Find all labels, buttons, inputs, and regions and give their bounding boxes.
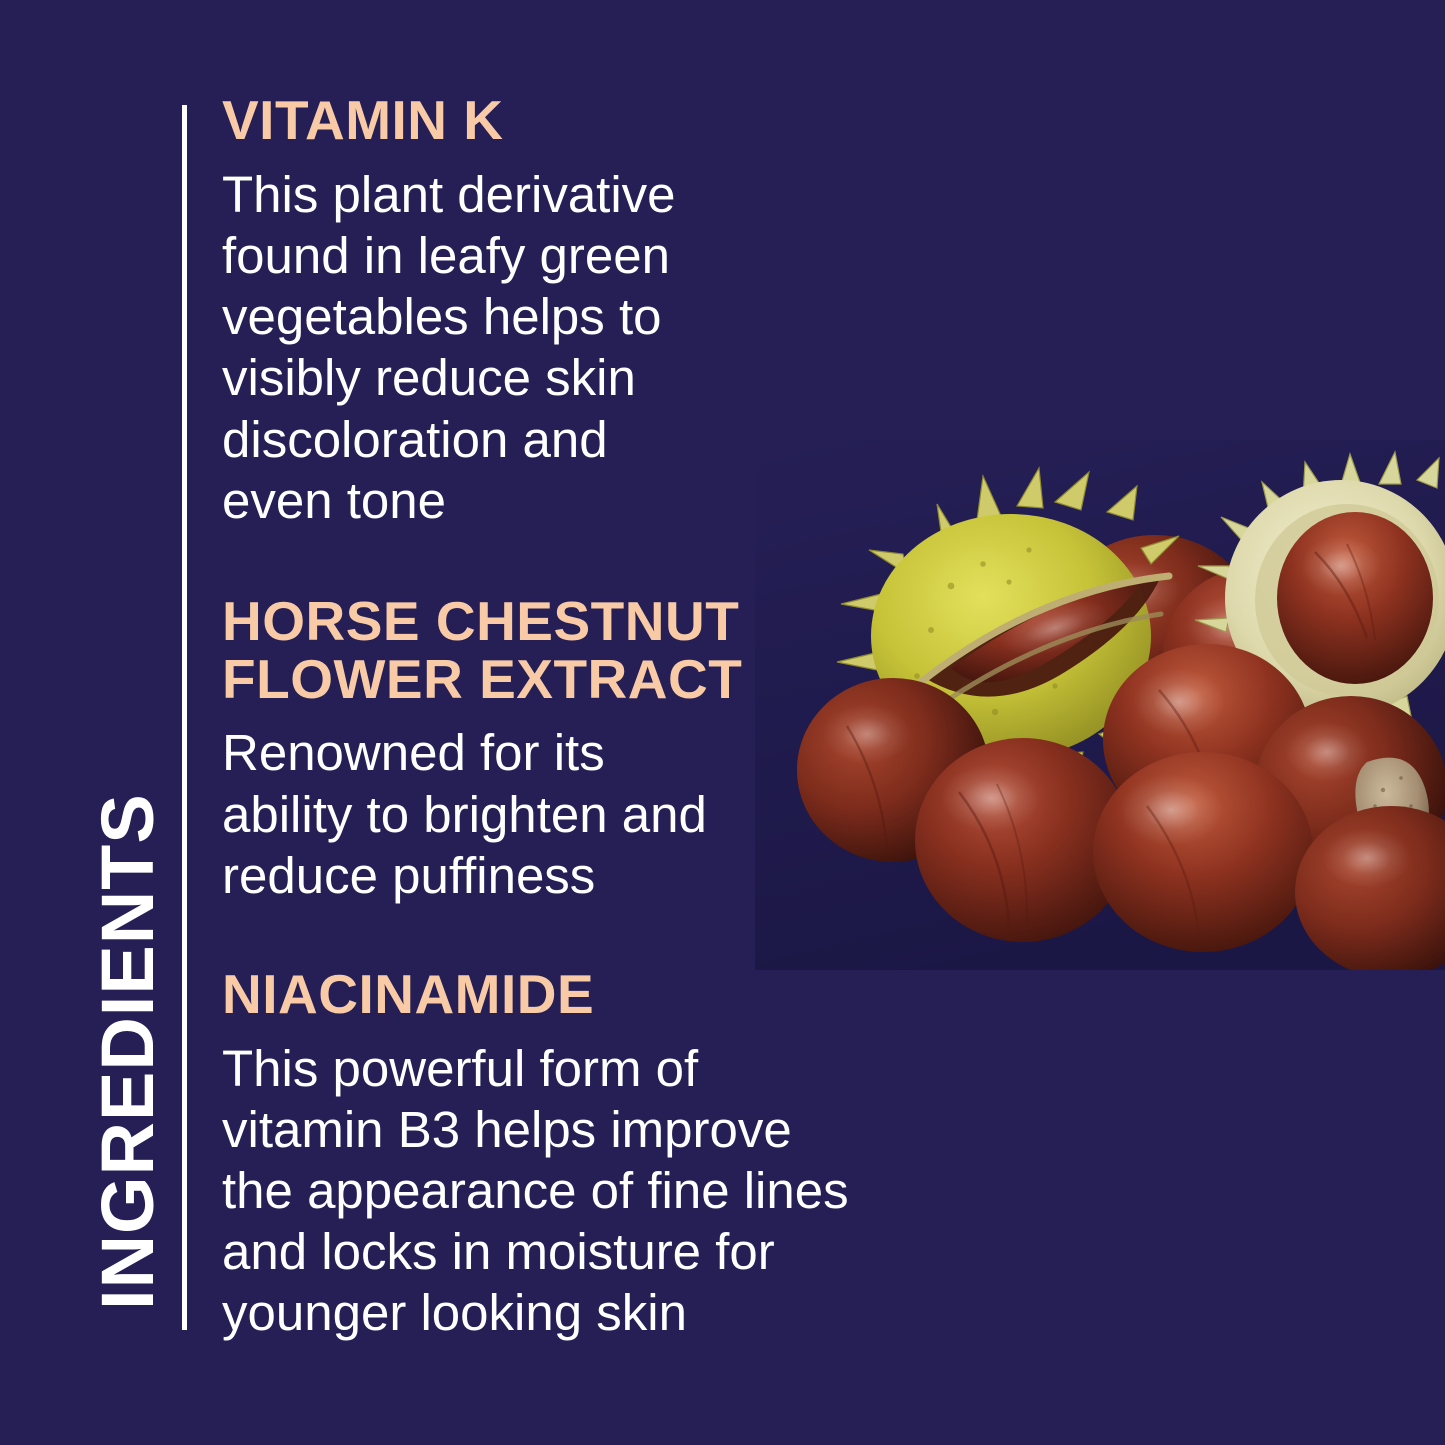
horse-chestnut-photo xyxy=(755,440,1445,970)
ingredient-description: This powerful form of vitamin B3 helps i… xyxy=(222,1038,902,1344)
vertical-divider xyxy=(182,105,187,1330)
ingredient-heading: VITAMIN K xyxy=(222,92,902,150)
section-vertical-label: INGREDIENTS xyxy=(78,770,178,1310)
ingredients-panel: INGREDIENTS VITAMIN K This plant derivat… xyxy=(0,0,1445,1445)
ingredient-item-niacinamide: NIACINAMIDE This powerful form of vitami… xyxy=(222,966,902,1344)
chestnut-illustration xyxy=(755,440,1445,970)
ingredient-heading: NIACINAMIDE xyxy=(222,966,902,1024)
section-label-text: INGREDIENTS xyxy=(91,793,165,1310)
